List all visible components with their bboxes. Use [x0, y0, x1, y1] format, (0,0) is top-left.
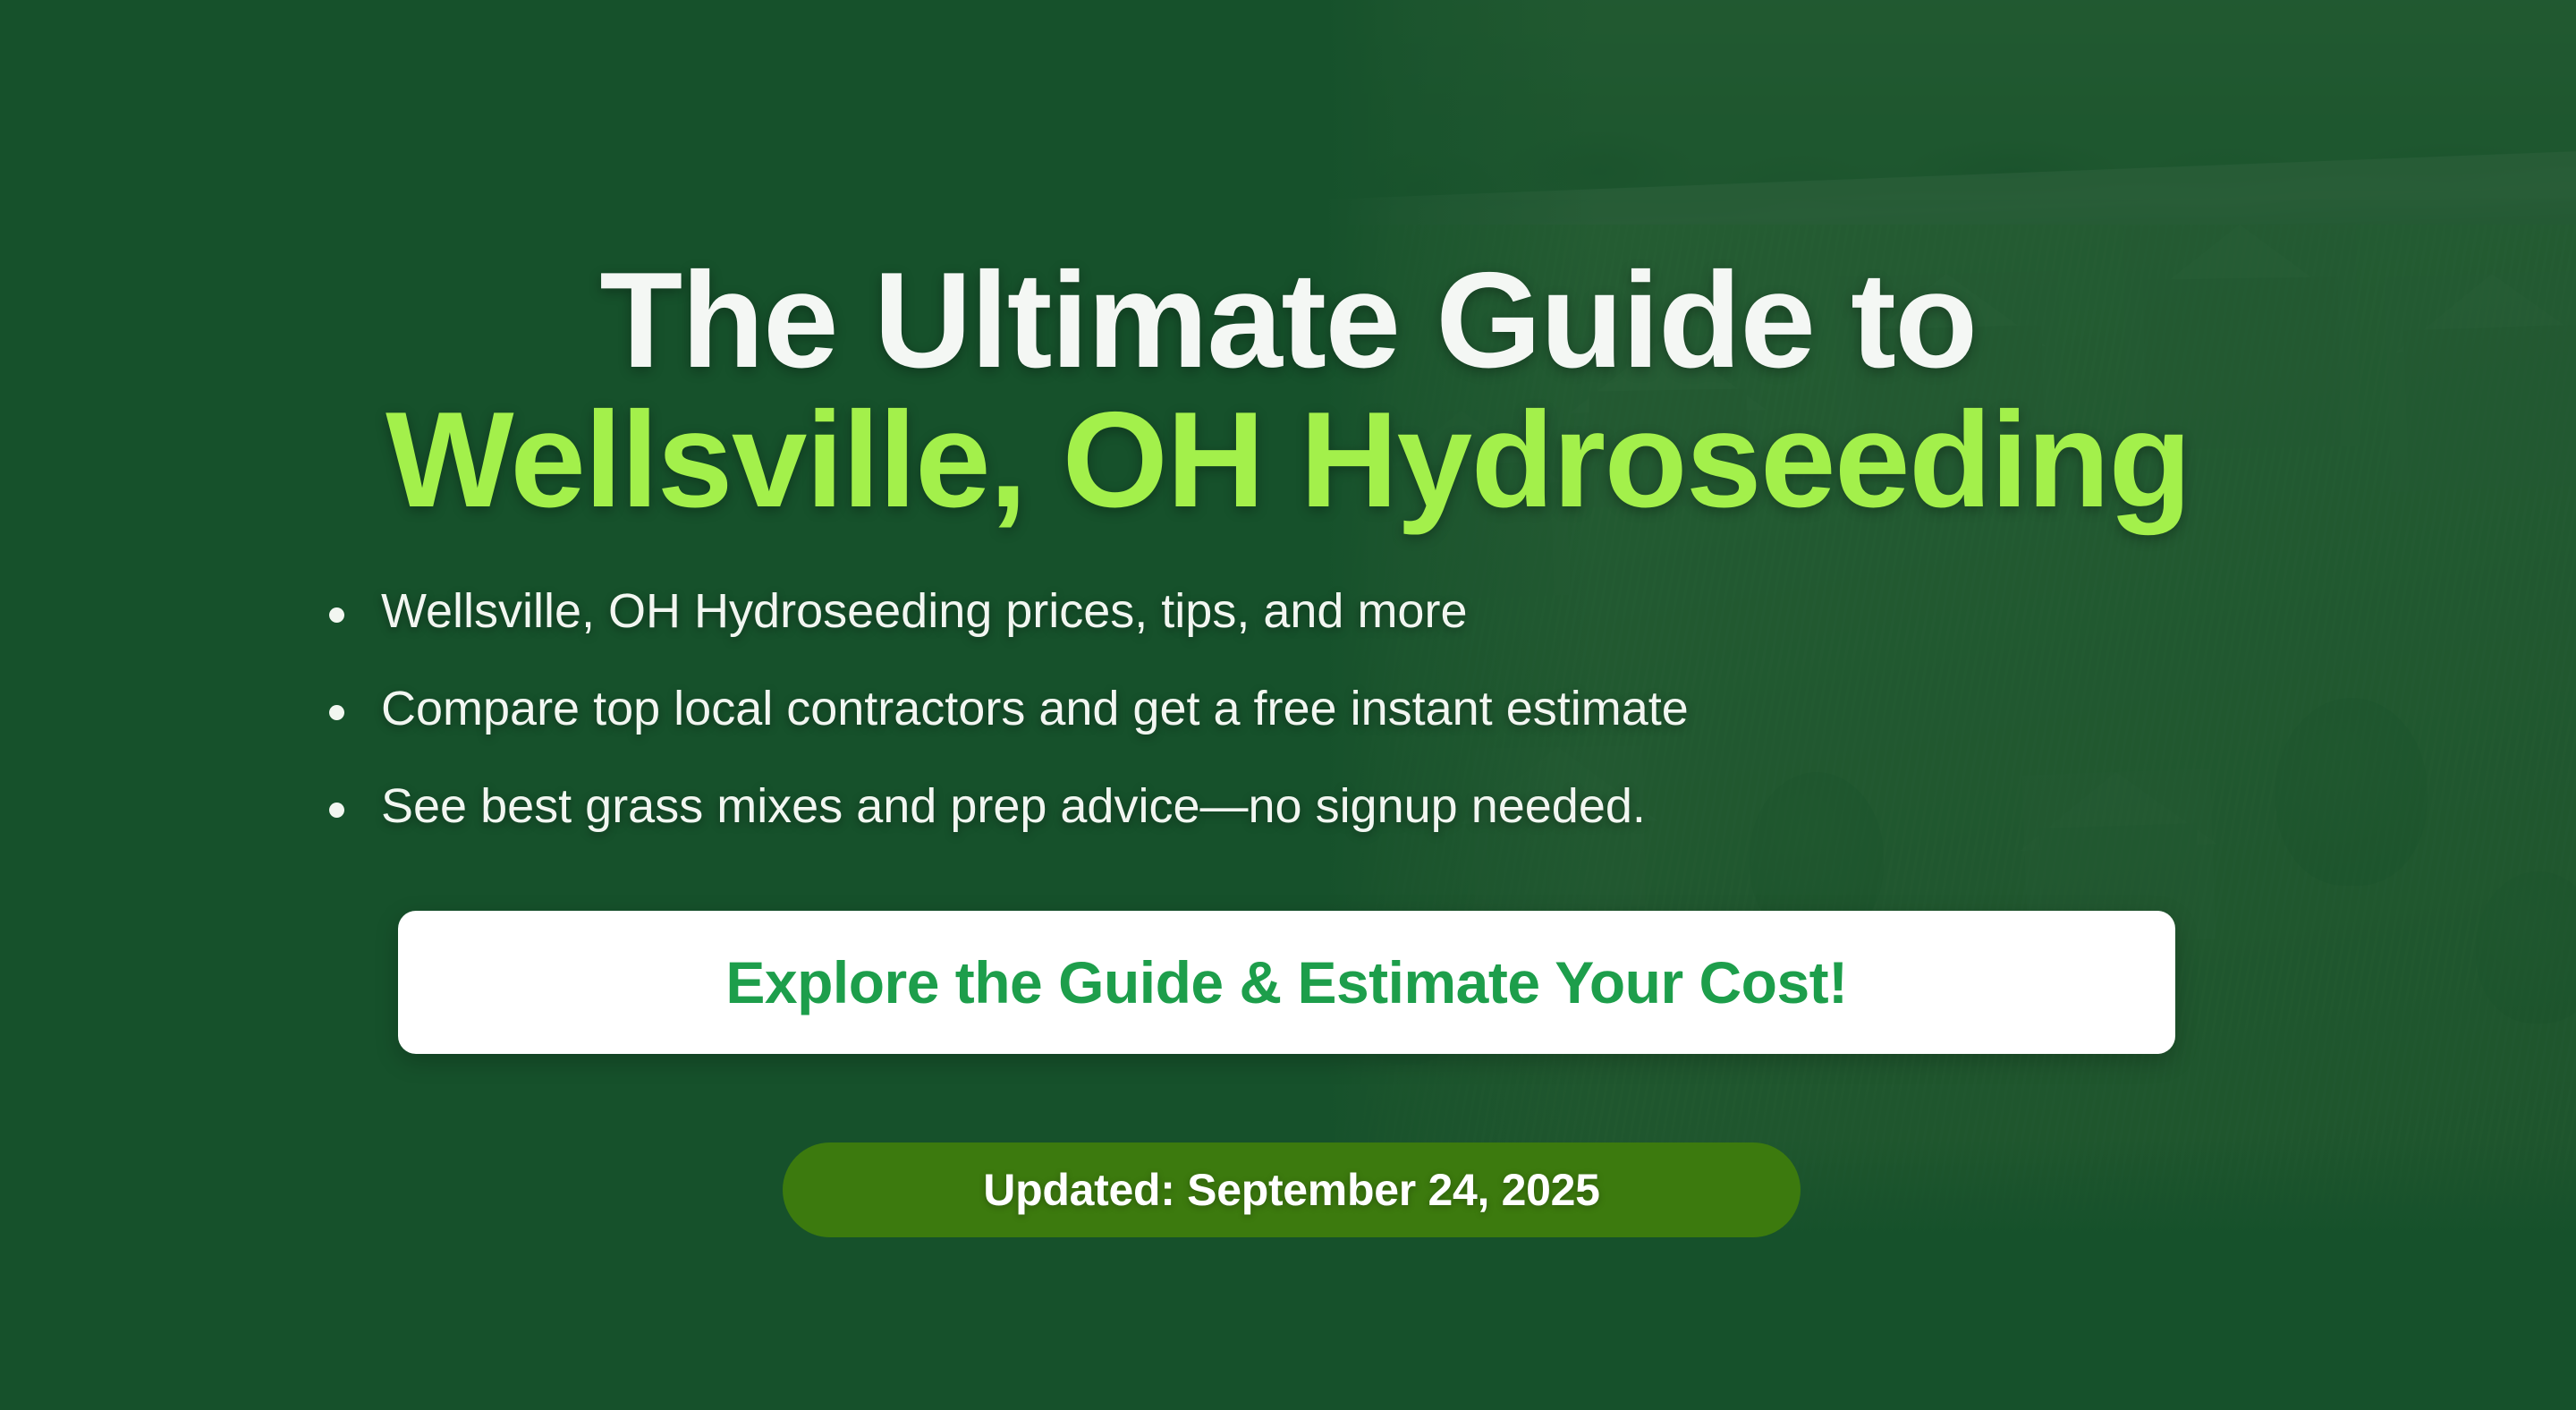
explore-guide-cta-button[interactable]: Explore the Guide & Estimate Your Cost! [398, 911, 2175, 1054]
headline-line-2: Wellsville, OH Hydroseeding [0, 390, 2576, 531]
headline-line-1: The Ultimate Guide to [0, 251, 2576, 391]
page-title: The Ultimate Guide to Wellsville, OH Hyd… [0, 251, 2576, 531]
hero-banner: The Ultimate Guide to Wellsville, OH Hyd… [0, 0, 2576, 1410]
list-item: Compare top local contractors and get a … [329, 684, 1689, 735]
updated-date-badge: Updated: September 24, 2025 [783, 1142, 1801, 1237]
banner-content: The Ultimate Guide to Wellsville, OH Hyd… [0, 0, 2576, 1410]
feature-bullet-list: Wellsville, OH Hydroseeding prices, tips… [329, 586, 1689, 879]
list-item: Wellsville, OH Hydroseeding prices, tips… [329, 586, 1689, 637]
list-item: See best grass mixes and prep advice—no … [329, 781, 1689, 832]
